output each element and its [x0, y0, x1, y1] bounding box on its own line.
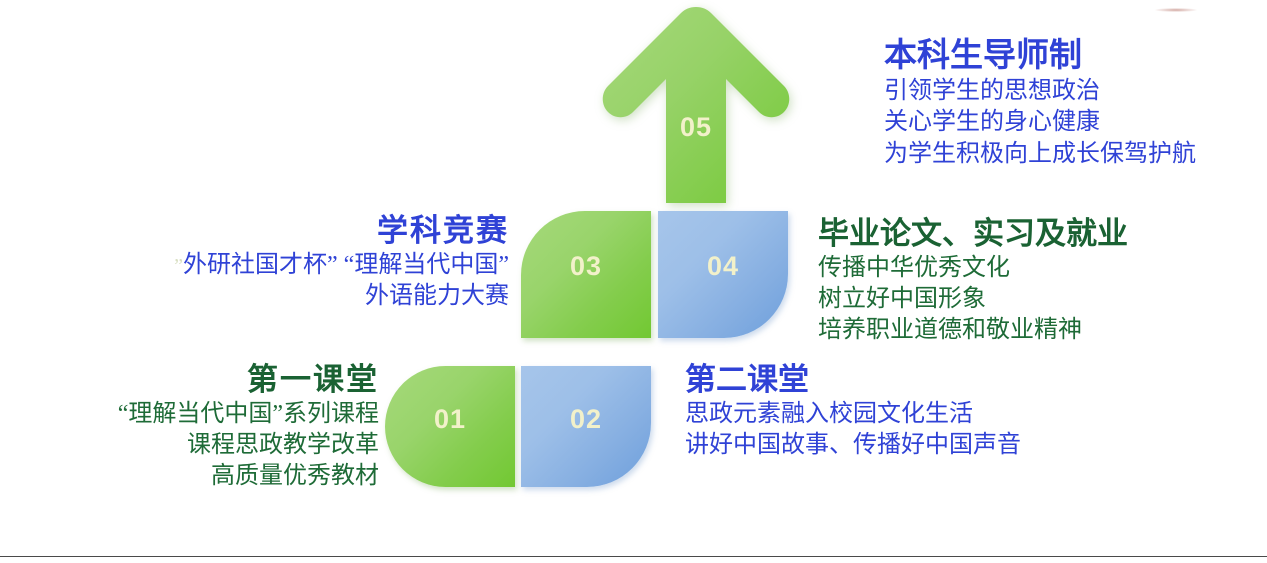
arrow-block-05[interactable]: 05 — [601, 4, 791, 203]
item-line-04-3: 培养职业道德和敬业精神 — [818, 315, 1128, 346]
item-line-01-3: 高质量优秀教材 — [118, 461, 379, 492]
corner-smudge-mark — [1155, 8, 1197, 12]
block-02[interactable]: 02 — [521, 366, 651, 487]
bottom-divider — [0, 556, 1267, 557]
item-line-01-2: 课程思政教学改革 — [118, 430, 379, 461]
text-group-03: 学科竞赛 ”外研社国才杯” “理解当代中国” 外语能力大赛 — [174, 212, 509, 312]
text-group-02: 第二课堂 思政元素融入校园文化生活 讲好中国故事、传播好中国声音 — [685, 361, 1021, 461]
item-title-01: 第一课堂 — [118, 361, 379, 399]
item-title-03: 学科竞赛 — [174, 212, 509, 250]
block-number-03: 03 — [521, 251, 651, 282]
text-group-04: 毕业论文、实习及就业 传播中华优秀文化 树立好中国形象 培养职业道德和敬业精神 — [818, 215, 1128, 346]
item-line-03-1-text: 外研社国才杯” “理解当代中国” — [183, 252, 509, 278]
item-line-04-1: 传播中华优秀文化 — [818, 253, 1128, 284]
block-number-02: 02 — [521, 404, 651, 435]
item-line-05-1: 引领学生的思想政治 — [884, 76, 1196, 107]
item-title-05: 本科生导师制 — [884, 36, 1196, 76]
item-line-03-1: ”外研社国才杯” “理解当代中国” — [174, 250, 509, 281]
block-number-01: 01 — [385, 404, 515, 435]
item-line-05-2: 关心学生的身心健康 — [884, 107, 1196, 138]
infographic-canvas: 05 本科生导师制 引领学生的思想政治 关心学生的身心健康 为学生积极向上成长保… — [0, 0, 1267, 563]
item-line-03-2: 外语能力大赛 — [174, 281, 509, 312]
block-01[interactable]: 01 — [385, 366, 515, 487]
item-line-04-2: 树立好中国形象 — [818, 284, 1128, 315]
block-number-05: 05 — [661, 112, 731, 143]
block-number-04: 04 — [658, 251, 788, 282]
item-line-02-2: 讲好中国故事、传播好中国声音 — [685, 430, 1021, 461]
up-arrow-icon — [601, 4, 791, 203]
block-04[interactable]: 04 — [658, 211, 788, 338]
block-03[interactable]: 03 — [521, 211, 651, 338]
item-title-04: 毕业论文、实习及就业 — [818, 215, 1128, 253]
text-group-01: 第一课堂 “理解当代中国”系列课程 课程思政教学改革 高质量优秀教材 — [118, 361, 379, 492]
item-title-02: 第二课堂 — [685, 361, 1021, 399]
item-line-02-1: 思政元素融入校园文化生活 — [685, 399, 1021, 430]
item-line-05-3: 为学生积极向上成长保驾护航 — [884, 139, 1196, 170]
item-line-01-1: “理解当代中国”系列课程 — [118, 399, 379, 430]
ghost-quote-mark: ” — [174, 255, 183, 277]
text-group-05: 本科生导师制 引领学生的思想政治 关心学生的身心健康 为学生积极向上成长保驾护航 — [884, 36, 1196, 170]
